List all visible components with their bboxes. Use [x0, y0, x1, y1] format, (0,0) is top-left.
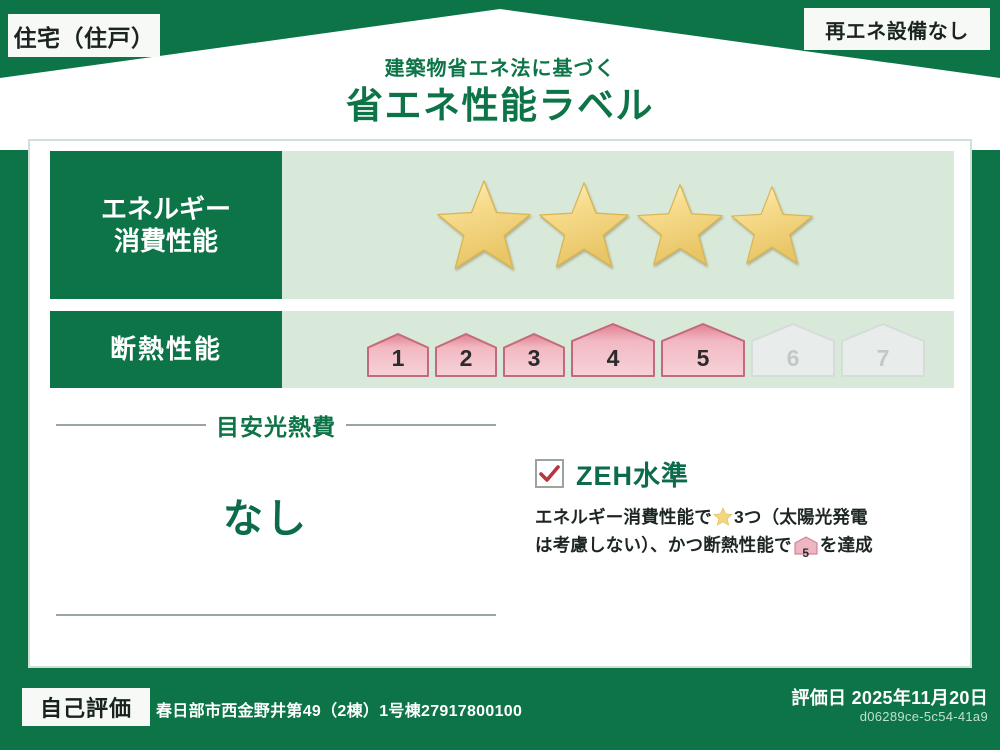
insulation-level-value: 2: [434, 345, 498, 372]
value-utility-cost: なし: [56, 486, 476, 544]
inline-house-badge: 5: [794, 535, 818, 563]
zeh-desc-line1-b: 3つ（太陽光発電: [734, 507, 868, 527]
insulation-level-value: 7: [840, 345, 926, 372]
zeh-desc-line2-a: は考慮しない）、かつ断熱性能で: [535, 535, 792, 555]
insulation-level-scale: 1234567: [366, 322, 926, 378]
label-zeh-standard: ZEH水準: [576, 454, 689, 493]
insulation-level-7: 7: [840, 322, 926, 378]
insulation-performance-body: 1234567: [282, 311, 954, 388]
divider-lower: [56, 614, 496, 616]
zeh-header: ZEH水準: [535, 454, 955, 493]
star-icon: [730, 185, 814, 265]
insulation-level-4: 4: [570, 322, 656, 378]
energy-label-root: 住宅（住戸） 再エネ設備なし 建築物省エネ法に基づく 省エネ性能ラベル エネルギ…: [0, 0, 1000, 750]
text-evaluation-date: 評価日 2025年11月20日: [791, 684, 988, 710]
badge-renewable-equipment: 再エネ設備なし: [804, 8, 990, 50]
row-energy-performance: エネルギー 消費性能: [50, 151, 954, 299]
star-icon: [636, 183, 724, 267]
insulation-level-6: 6: [750, 322, 836, 378]
zeh-description: エネルギー消費性能で3つ（太陽光発電 は考慮しない）、かつ断熱性能で5を達成: [535, 503, 955, 564]
main-card: エネルギー 消費性能 断熱性能 1234567 目安光熱費 なし: [28, 139, 972, 668]
label-energy-performance-line1: エネルギー: [101, 193, 231, 226]
zeh-block: ZEH水準 エネルギー消費性能で3つ（太陽光発電 は考慮しない）、かつ断熱性能で…: [535, 454, 955, 564]
text-evaluation-id: d06289ce-5c54-41a9: [860, 709, 988, 724]
label-energy-performance-line2: 消費性能: [114, 225, 218, 258]
utility-cost-header: 目安光熱費: [56, 408, 496, 442]
label-insulation-performance-text: 断熱性能: [110, 333, 222, 366]
lower-section: 目安光熱費 なし ZEH水準 エネルギー消費性能で3つ（太陽光発電 は考慮しない…: [30, 396, 974, 670]
star-icon: [713, 507, 733, 526]
zeh-desc-line1-a: エネルギー消費性能で: [535, 507, 712, 527]
row-insulation-performance: 断熱性能 1234567: [50, 311, 954, 388]
insulation-level-value: 4: [570, 345, 656, 372]
label-energy-performance: エネルギー 消費性能: [50, 151, 282, 299]
insulation-level-value: 1: [366, 345, 430, 372]
zeh-desc-line2-b: を達成: [820, 535, 873, 555]
insulation-level-value: 5: [660, 345, 746, 372]
label-utility-cost-title: 目安光熱費: [216, 408, 336, 442]
insulation-level-1: 1: [366, 332, 430, 378]
insulation-level-5: 5: [660, 322, 746, 378]
energy-performance-body: [282, 151, 954, 299]
insulation-level-2: 2: [434, 332, 498, 378]
rule-left: [56, 424, 206, 426]
page-title: 省エネ性能ラベル: [0, 86, 1000, 127]
badge-housing-type: 住宅（住戸）: [8, 14, 160, 57]
star-rating: [436, 179, 814, 270]
insulation-level-value: 6: [750, 345, 836, 372]
insulation-level-3: 3: [502, 332, 566, 378]
badge-self-evaluation: 自己評価: [22, 688, 150, 726]
title-block: 建築物省エネ法に基づく 省エネ性能ラベル: [0, 58, 1000, 127]
footer: 自己評価 春日部市西金野井第49（2棟）1号棟27917800100 評価日 2…: [0, 668, 1000, 750]
star-icon: [436, 179, 532, 270]
text-property-address: 春日部市西金野井第49（2棟）1号棟27917800100: [156, 697, 522, 721]
rule-right: [346, 424, 496, 426]
check-icon: [539, 465, 560, 483]
label-subtitle: 建築物省エネ法に基づく: [0, 58, 1000, 80]
star-icon: [538, 181, 630, 268]
insulation-level-value: 3: [502, 345, 566, 372]
inline-house-value: 5: [794, 544, 818, 563]
label-insulation-performance: 断熱性能: [50, 311, 282, 388]
zeh-checkbox[interactable]: [535, 459, 564, 488]
